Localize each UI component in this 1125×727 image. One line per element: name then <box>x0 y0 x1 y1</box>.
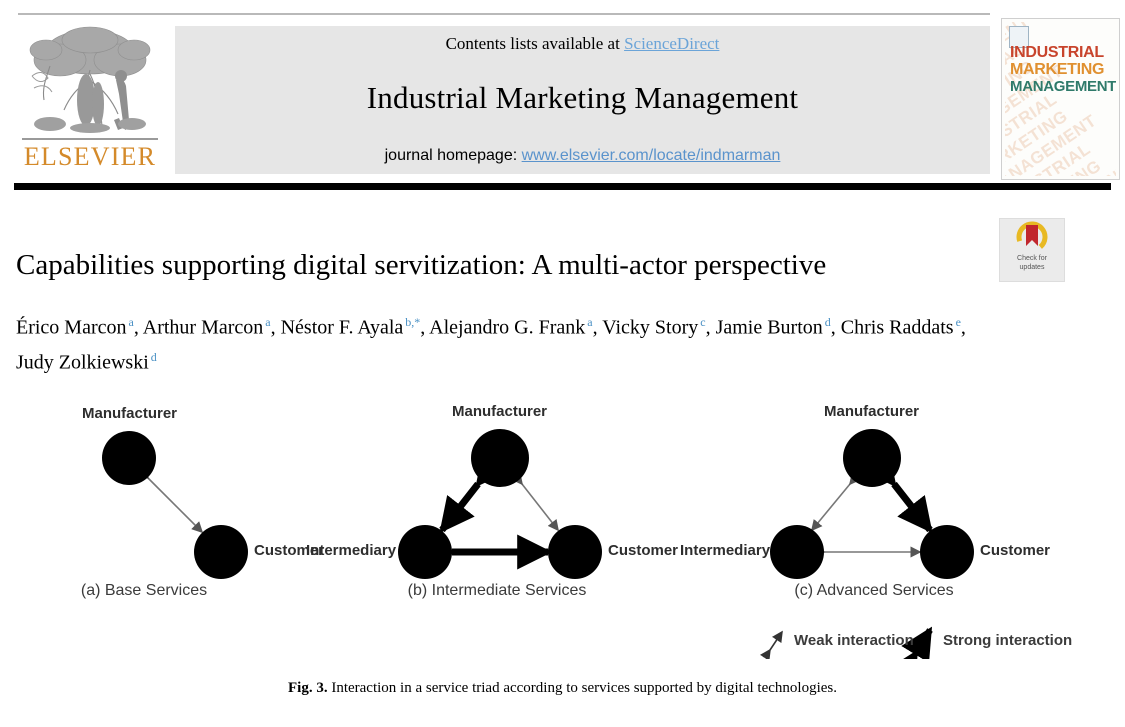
node-intermediary <box>398 525 452 579</box>
journal-homepage-link[interactable]: www.elsevier.com/locate/indmarman <box>522 147 781 164</box>
caption-panel-b: (b) Intermediate Services <box>302 582 692 600</box>
journal-homepage-line: journal homepage: www.elsevier.com/locat… <box>175 147 990 165</box>
crossmark-badge[interactable]: Check for updates <box>999 218 1065 282</box>
contents-list-prefix: Contents lists available at <box>446 34 624 53</box>
author-affiliation-marker: a <box>265 315 270 329</box>
author-affiliation-marker: c <box>700 315 705 329</box>
legend-weak-arrow-icon <box>770 632 782 650</box>
label-intermediary: Intermediary <box>306 542 396 559</box>
label-manufacturer: Manufacturer <box>452 403 547 420</box>
node-manufacturer <box>471 429 529 487</box>
crossmark-line1: Check for <box>1000 255 1064 264</box>
author-affiliation-marker: b,* <box>405 315 420 329</box>
author-affiliation-marker: d <box>825 315 831 329</box>
legend-strong-label: Strong interaction <box>943 632 1072 649</box>
header-top-rule <box>18 13 990 15</box>
label-intermediary: Intermediary <box>680 542 770 559</box>
label-customer: Customer <box>980 542 1050 559</box>
crossmark-icon <box>1000 219 1064 255</box>
author-name: Vicky Story <box>602 317 698 339</box>
author-affiliation-marker: d <box>151 350 157 364</box>
elsevier-wordmark: ELSEVIER <box>14 142 166 172</box>
panel-intermediate-services: Manufacturer Intermediary Customer (b) I… <box>300 392 690 607</box>
sciencedirect-link[interactable]: ScienceDirect <box>624 34 719 53</box>
journal-title: Industrial Marketing Management <box>175 80 990 116</box>
journal-cover-thumbnail: MANAGEMENT INDUSTRIAL MARKETING MANAGEME… <box>1001 18 1120 180</box>
elsevier-logo: ELSEVIER <box>14 22 166 174</box>
panel-base-services: Manufacturer Customer (a) Base Services <box>22 392 322 607</box>
legend-weak-label: Weak interaction <box>794 632 914 649</box>
crossmark-line2: updates <box>1000 264 1064 273</box>
author-name: Jamie Burton <box>716 317 823 339</box>
edge-manufacturer-customer-strong <box>894 484 930 530</box>
header-bottom-rule <box>14 183 1111 190</box>
label-manufacturer: Manufacturer <box>82 405 177 422</box>
contents-list-line: Contents lists available at ScienceDirec… <box>175 34 990 54</box>
author-affiliation-marker: a <box>129 315 134 329</box>
edge-manufacturer-customer-weak <box>148 478 202 532</box>
node-intermediary <box>770 525 824 579</box>
label-customer: Customer <box>608 542 678 559</box>
author-affiliation-marker: e <box>956 315 961 329</box>
panel-advanced-services: Manufacturer Intermediary Customer (c) A… <box>672 392 1072 607</box>
journal-banner: Contents lists available at ScienceDirec… <box>175 26 990 174</box>
figure-caption-label: Fig. 3. <box>288 680 328 696</box>
edge-manufacturer-customer-weak <box>522 484 558 530</box>
caption-panel-c: (c) Advanced Services <box>674 582 1074 600</box>
edge-manufacturer-intermediary-strong <box>442 484 478 530</box>
author-name: Érico Marcon <box>16 317 127 339</box>
node-customer <box>194 525 248 579</box>
figure-legend: Weak interaction Strong interaction <box>758 625 1088 659</box>
cover-title-line2: MARKETING <box>1010 61 1116 78</box>
figure-caption: Fig. 3. Interaction in a service triad a… <box>0 680 1125 697</box>
author-name: Judy Zolkiewski <box>16 351 149 373</box>
cover-title-block: INDUSTRIAL MARKETING MANAGEMENT <box>1010 44 1116 95</box>
node-customer <box>920 525 974 579</box>
label-manufacturer: Manufacturer <box>824 403 919 420</box>
author-name: Chris Raddats <box>841 317 954 339</box>
cover-title-line3: MANAGEMENT <box>1010 78 1116 95</box>
caption-panel-a: (a) Base Services <box>0 582 294 600</box>
elsevier-logo-rule <box>22 138 158 140</box>
crossmark-label: Check for updates <box>1000 255 1064 272</box>
journal-homepage-prefix: journal homepage: <box>385 147 522 164</box>
author-name: Alejandro G. Frank <box>429 317 585 339</box>
node-manufacturer <box>843 429 901 487</box>
article-title: Capabilities supporting digital servitiz… <box>16 248 976 282</box>
author-list: Érico Marcona, Arthur Marcona, Néstor F.… <box>16 308 976 377</box>
node-manufacturer <box>102 431 156 485</box>
edge-manufacturer-intermediary-weak <box>812 484 850 530</box>
author-name: Néstor F. Ayala <box>281 317 404 339</box>
cover-title-line1: INDUSTRIAL <box>1010 44 1116 61</box>
author-name: Arthur Marcon <box>143 317 264 339</box>
node-customer <box>548 525 602 579</box>
author-affiliation-marker: a <box>587 315 592 329</box>
elsevier-tree-icon <box>20 22 160 140</box>
figure-3: Manufacturer Customer (a) Base Services <box>0 392 1125 727</box>
figure-caption-text: Interaction in a service triad according… <box>328 680 837 696</box>
legend-strong-arrow-icon <box>916 630 930 653</box>
